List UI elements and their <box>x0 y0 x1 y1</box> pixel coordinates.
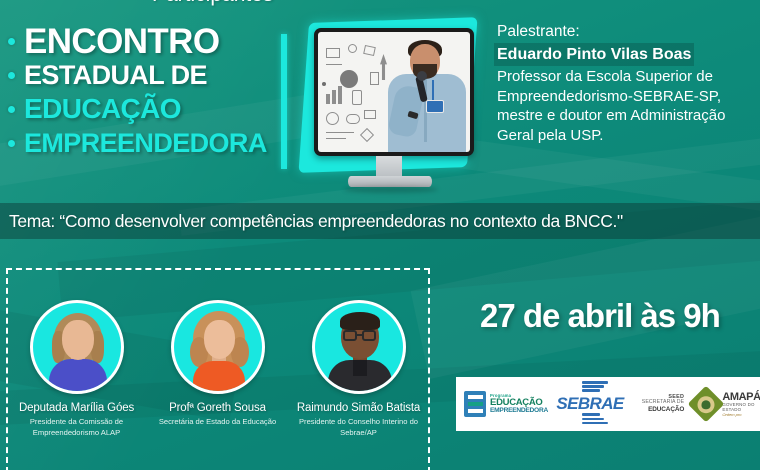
title-row: ENCONTRO <box>8 24 294 58</box>
list-item: Deputada Marília Góes Presidente da Comi… <box>6 300 147 438</box>
doodle-arrow-up-icon <box>380 54 387 80</box>
logo-seed: SEED SECRETARIA DE EDUCAÇÃO <box>632 377 694 431</box>
avatar-face <box>62 320 94 360</box>
logo-sebrae: SEBRAE <box>548 377 632 431</box>
logo-line-3: EDUCAÇÃO <box>642 406 684 413</box>
doodle-circle-icon <box>326 112 339 125</box>
title-line-4: EMPREENDEDORA <box>24 130 267 157</box>
doodle-bar-icon <box>332 90 336 104</box>
doodle-box-icon <box>326 48 340 58</box>
avatar-face <box>204 320 235 359</box>
tree-icon <box>702 400 711 409</box>
sebrae-bar <box>582 422 608 425</box>
mark-stripe <box>468 395 483 399</box>
participant-role: Secretária de Estado da Educação <box>147 416 288 427</box>
avatar-body <box>49 359 107 394</box>
event-banner: ENCONTRO ESTADUAL DE EDUCAÇÃO EMPREENDED… <box>0 0 760 470</box>
mark-stripe <box>468 409 483 413</box>
doodle-doc-icon <box>370 72 379 85</box>
doodle-chart-icon <box>363 45 376 56</box>
speaker-photo <box>388 40 466 152</box>
logo-governo-amapa: AMAPÁ GOVERNO DO ESTADO Ordem pro <box>694 377 760 431</box>
doodle-globe-icon <box>340 70 358 88</box>
title-row: EDUCAÇÃO <box>8 92 294 126</box>
lanyard <box>432 80 434 101</box>
doodle-bulb-icon <box>348 44 357 53</box>
doodle-line <box>326 132 354 133</box>
avatar <box>30 300 124 394</box>
doodle-diamond-icon <box>360 128 374 142</box>
sebrae-bar <box>582 385 604 388</box>
amapa-wordmark: AMAPÁ GOVERNO DO ESTADO Ordem pro <box>722 391 760 417</box>
avatar-hair <box>340 312 380 330</box>
educacao-empreendedora-wordmark: Programa EDUCAÇÃO EMPREENDEDORA <box>490 394 548 414</box>
speaker-bio: Professor da Escola Superior de Empreend… <box>497 67 755 145</box>
doodle-line <box>326 64 342 65</box>
title-line-1: ENCONTRO <box>24 24 219 59</box>
participant-role: Presidente do Conselho Interino do Sebra… <box>288 416 429 438</box>
doodle-note-icon <box>364 110 376 119</box>
monitor-stand-neck <box>376 156 402 178</box>
doodle-bar-icon <box>326 94 330 104</box>
sebrae-bars-icon <box>582 381 608 393</box>
speaker-info: Palestrante: Eduardo Pinto Vilas Boas Pr… <box>497 22 755 145</box>
speaker-label: Palestrante: <box>497 22 755 42</box>
theme-text: Tema: “Como desenvolver competências emp… <box>0 211 623 232</box>
sebrae-lockup: SEBRAE <box>556 394 623 414</box>
participant-name: Raimundo Simão Batista <box>288 402 429 414</box>
microphone-head-icon <box>417 71 427 81</box>
participant-name: Deputada Marília Góes <box>6 402 147 414</box>
doodle-line <box>326 138 346 139</box>
speaker-name: Eduardo Pinto Vilas Boas <box>494 43 694 66</box>
title-line-2: ESTADUAL DE <box>24 62 207 89</box>
avatar-illustration <box>33 303 121 391</box>
sebrae-bar <box>582 381 608 384</box>
participants-section-title: Participantes <box>152 0 272 8</box>
amapa-diamond-icon <box>688 386 725 423</box>
bullet-dot-icon <box>8 140 15 147</box>
event-date: 27 de abril às 9h <box>480 297 720 335</box>
participant-name: Profª Goreth Sousa <box>147 402 288 414</box>
amapa-inner-circle-icon <box>698 396 715 413</box>
doodle-dot <box>322 82 326 86</box>
doodle-phone-icon <box>352 90 362 105</box>
participants-list: Deputada Marília Góes Presidente da Comi… <box>6 300 430 438</box>
sebrae-bar <box>582 418 604 421</box>
logo-line-3: EMPREENDEDORA <box>490 408 548 415</box>
title-row: ESTADUAL DE <box>8 58 294 92</box>
title-line-3: EDUCAÇÃO <box>24 95 181 123</box>
sebrae-bar <box>582 413 600 416</box>
seed-wordmark: SEED SECRETARIA DE EDUCAÇÃO <box>642 394 684 414</box>
doodle-bar-icon <box>338 86 342 104</box>
logo-educacao-empreendedora: Programa EDUCAÇÃO EMPREENDEDORA <box>456 377 548 431</box>
bullet-dot-icon <box>8 106 15 113</box>
mark-stripe <box>468 402 483 406</box>
cyan-divider-bar <box>281 34 287 169</box>
list-item: Raimundo Simão Batista Presidente do Con… <box>288 300 429 438</box>
avatar-collar <box>353 360 367 376</box>
badge-icon <box>426 100 444 113</box>
monitor-graphic <box>300 14 480 192</box>
list-item: Profª Goreth Sousa Secretária de Estado … <box>147 300 288 438</box>
sponsor-logo-bar: Programa EDUCAÇÃO EMPREENDEDORA SEBRAE <box>456 377 760 431</box>
monitor-shadow <box>344 186 438 193</box>
doodle-cloud-icon <box>346 114 360 124</box>
event-title: ENCONTRO ESTADUAL DE EDUCAÇÃO EMPREENDED… <box>8 24 294 160</box>
avatar-illustration <box>174 303 262 391</box>
glasses-bridge-icon <box>357 334 362 336</box>
glasses-icon <box>343 330 357 341</box>
monitor-screen <box>318 32 470 152</box>
logo-line-3: Ordem pro <box>722 413 760 417</box>
sebrae-bar <box>582 389 600 392</box>
theme-banner: Tema: “Como desenvolver competências emp… <box>0 203 760 239</box>
monitor-bezel <box>314 28 474 156</box>
avatar <box>171 300 265 394</box>
avatar-illustration <box>315 303 403 391</box>
sebrae-wordmark: SEBRAE <box>556 394 623 414</box>
educacao-empreendedora-mark-icon <box>464 391 486 417</box>
bullet-dot-icon <box>8 72 15 79</box>
glasses-icon <box>362 330 376 341</box>
avatar <box>312 300 406 394</box>
bullet-dot-icon <box>8 38 15 45</box>
title-row: EMPREENDEDORA <box>8 126 294 160</box>
participant-role: Presidente da Comissão de Empreendedoris… <box>6 416 147 438</box>
sebrae-bars-icon <box>582 413 608 426</box>
avatar-body <box>193 361 245 394</box>
